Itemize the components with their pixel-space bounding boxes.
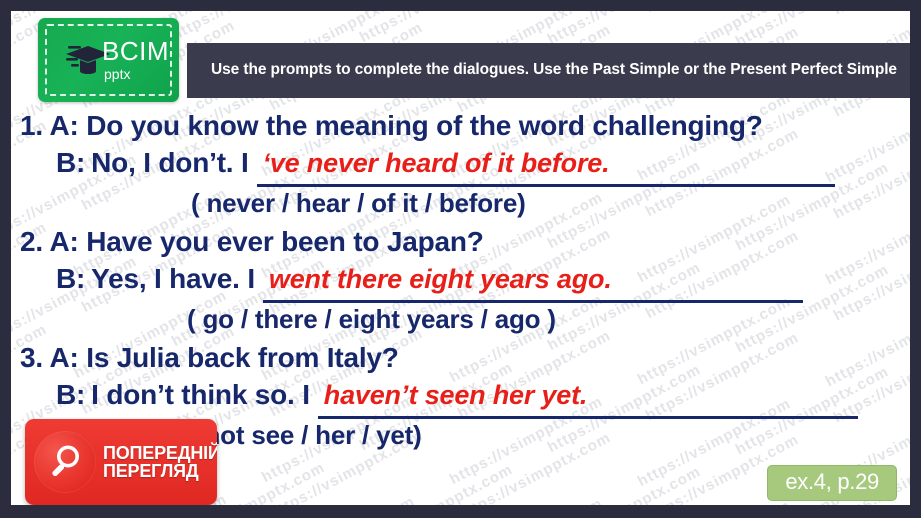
logo-wordmark: BCIM pptx [102, 38, 169, 81]
slide-canvas: https://vsimpptx.comhttps://vsimpptx.com… [11, 11, 910, 505]
answer-text-2: went there eight years ago. [269, 264, 612, 294]
speaker-b-text-1: No, I don’t. I [91, 144, 248, 181]
answer-text-1: ‘ve never heard of it before. [263, 148, 610, 178]
preview-label-line1: ПОПЕРЕДНІЙ [103, 444, 217, 462]
exercise-item-2: 2. A: Have you ever been to Japan? B: Ye… [11, 223, 910, 337]
exercise-reference-badge: ex.4, p.29 [767, 465, 897, 501]
speaker-a-label-2: A: [50, 226, 79, 257]
exercise-body: 1. A: Do you know the meaning of the wor… [11, 107, 910, 455]
header-bar: Use the prompts to complete the dialogue… [187, 43, 910, 98]
answer-blank-3: haven’t seen her yet. [318, 376, 858, 419]
dialogue-line-b-1: B: No, I don’t. I ‘ve never heard of it … [11, 144, 910, 187]
speaker-b-label-1: B: [56, 144, 85, 181]
preview-label: ПОПЕРЕДНІЙ ПЕРЕГЛЯД [103, 444, 217, 481]
preview-overlay-badge: ПОПЕРЕДНІЙ ПЕРЕГЛЯД [25, 419, 217, 505]
answer-blank-1: ‘ve never heard of it before. [257, 144, 835, 187]
item-number-1: 1. [20, 110, 43, 141]
dialogue-line-a-2: 2. A: Have you ever been to Japan? [11, 223, 910, 260]
speaker-b-text-3: I don’t think so. I [91, 376, 310, 413]
speaker-a-label-1: A: [50, 110, 79, 141]
preview-label-line2: ПЕРЕГЛЯД [103, 462, 217, 480]
logo-brand-text: BCIM [102, 38, 169, 64]
item-number-3: 3. [20, 342, 43, 373]
magnifier-icon [34, 431, 96, 493]
speaker-a-label-3: A: [50, 342, 79, 373]
speaker-a-text-2: Have you ever been to Japan? [86, 226, 483, 257]
answer-blank-2: went there eight years ago. [263, 260, 803, 303]
speaker-b-text-2: Yes, I have. I [91, 260, 255, 297]
logo-suffix-text: pptx [104, 67, 169, 81]
dialogue-line-b-3: B: I don’t think so. I haven’t seen her … [11, 376, 910, 419]
slide-frame: https://vsimpptx.comhttps://vsimpptx.com… [0, 0, 921, 518]
dialogue-line-b-2: B: Yes, I have. I went there eight years… [11, 260, 910, 303]
prompt-hint-1: ( never / hear / of it / before) [11, 187, 910, 221]
exercise-item-1: 1. A: Do you know the meaning of the wor… [11, 107, 910, 221]
speaker-a-text-1: Do you know the meaning of the word chal… [86, 110, 762, 141]
answer-text-3: haven’t seen her yet. [324, 380, 587, 410]
item-number-2: 2. [20, 226, 43, 257]
speaker-b-label-3: B: [56, 376, 85, 413]
dialogue-line-a-3: 3. A: Is Julia back from Italy? [11, 339, 910, 376]
page-title: Use the prompts to complete the dialogue… [211, 60, 897, 81]
speaker-a-text-3: Is Julia back from Italy? [86, 342, 398, 373]
speaker-b-label-2: B: [56, 260, 85, 297]
dialogue-line-a-1: 1. A: Do you know the meaning of the wor… [11, 107, 910, 144]
brand-logo: BCIM pptx [38, 18, 179, 102]
prompt-hint-2: ( go / there / eight years / ago ) [11, 303, 910, 337]
